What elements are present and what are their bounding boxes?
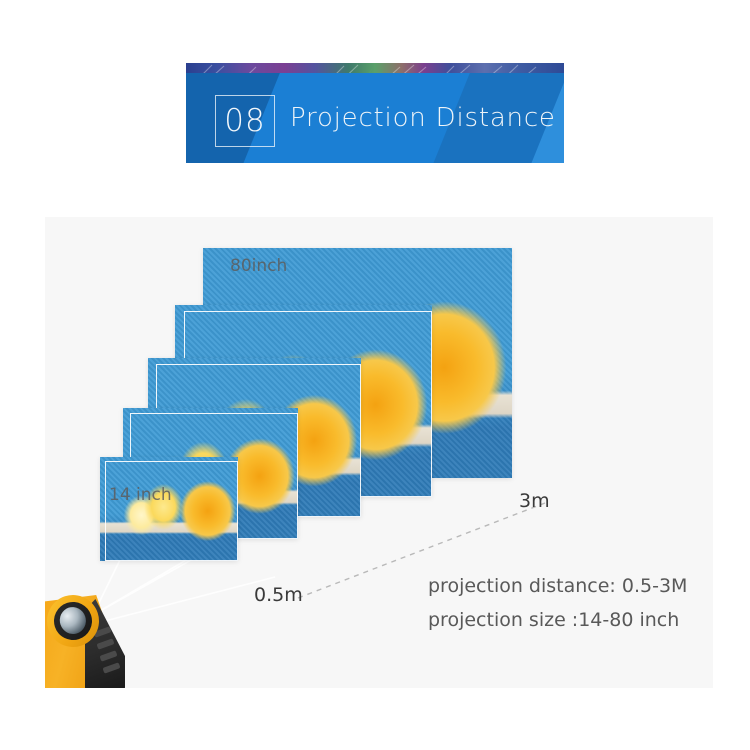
spec-text-block: projection distance: 0.5-3M projection s… [428, 569, 687, 637]
vent-slot-icon [96, 638, 114, 649]
projector-device [45, 585, 150, 688]
banner-number-box: 08 [215, 95, 275, 147]
spec-projection-distance: projection distance: 0.5-3M [428, 569, 687, 603]
page-title: Projection Distance [290, 103, 556, 133]
banner-number: 08 [224, 106, 265, 137]
dimension-label-far: 3m [519, 490, 550, 512]
vent-slot-icon [99, 650, 117, 661]
vent-slot-icon [102, 662, 120, 673]
banner-body: 08 Projection Distance [186, 73, 564, 163]
projection-screen-14inch [100, 457, 238, 561]
dimension-label-near: 0.5m [254, 584, 303, 606]
projection-illustration: 80inch 14 inch 0.5m 3m projection distan… [45, 217, 713, 688]
projector-lens-glass-icon [56, 604, 89, 638]
screen-label-14inch: 14 inch [109, 485, 172, 505]
screen-photo [100, 457, 238, 561]
section-header-banner: 08 Projection Distance [186, 63, 564, 163]
projector-lens-housing [49, 597, 97, 645]
screen-label-80inch: 80inch [230, 256, 287, 276]
spec-projection-size: projection size :14-80 inch [428, 603, 687, 637]
